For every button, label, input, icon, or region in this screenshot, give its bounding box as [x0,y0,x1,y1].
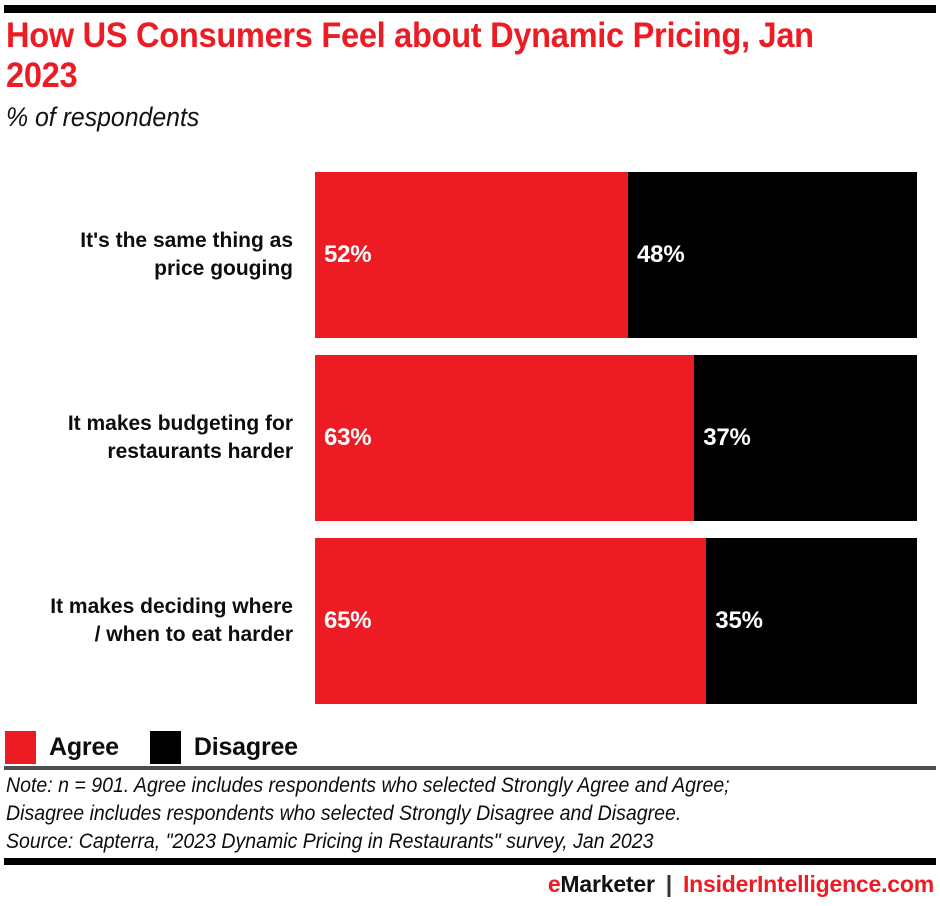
bar-row: It makes budgeting for restaurants harde… [0,355,940,521]
bar-row: It makes deciding where / when to eat ha… [0,538,940,704]
note-line-2: Disagree includes respondents who select… [6,800,869,828]
category-label: It makes budgeting for restaurants harde… [0,355,293,521]
bar-value-label-disagree: 48% [628,241,684,269]
emarketer-logo-e: e [548,871,561,898]
bar-segment-agree: 52% [315,172,628,338]
legend-swatch-disagree [150,731,181,764]
bar-segment-disagree: 48% [628,172,917,338]
top-divider-rule [4,5,936,13]
bar-segment-agree: 65% [315,538,706,704]
branding-separator: | [666,871,672,898]
category-label: It makes deciding where / when to eat ha… [0,538,293,704]
bar-segment-disagree: 37% [694,355,917,521]
bar-value-label-agree: 63% [315,424,371,452]
bar-value-label-disagree: 37% [694,424,750,452]
bar-segment-agree: 63% [315,355,694,521]
legend-swatch-agree [5,731,36,764]
stacked-bar: 52% 48% [315,172,917,338]
bar-row: It's the same thing as price gouging 52%… [0,172,940,338]
legend-item-agree: Agree [5,731,119,764]
bottom-divider-rule [4,858,936,865]
chart-subtitle: % of respondents [6,102,843,133]
chart-footnotes: Note: n = 901. Agree includes respondent… [6,772,869,856]
branding-bar: e Marketer | InsiderIntelligence.com [548,871,934,898]
legend-label-disagree: Disagree [194,733,298,762]
stacked-bar: 65% 35% [315,538,917,704]
bar-value-label-agree: 65% [315,607,371,635]
chart-figure: How US Consumers Feel about Dynamic Pric… [0,0,940,906]
source-line: Source: Capterra, "2023 Dynamic Pricing … [6,828,869,856]
stacked-bar: 63% 37% [315,355,917,521]
insider-intelligence-url: InsiderIntelligence.com [683,871,934,898]
bar-segment-disagree: 35% [706,538,917,704]
chart-legend: Agree Disagree [5,730,329,764]
note-line-1: Note: n = 901. Agree includes respondent… [6,772,869,800]
legend-label-agree: Agree [49,733,119,762]
bar-value-label-disagree: 35% [706,607,762,635]
legend-item-disagree: Disagree [150,731,298,764]
emarketer-logo-text: Marketer [560,871,654,898]
chart-plot-area: It's the same thing as price gouging 52%… [0,172,940,706]
bar-value-label-agree: 52% [315,241,371,269]
category-label: It's the same thing as price gouging [0,172,293,338]
notes-divider-rule [4,766,936,770]
page-title: How US Consumers Feel about Dynamic Pric… [6,16,852,95]
chart-header: How US Consumers Feel about Dynamic Pric… [6,16,916,133]
